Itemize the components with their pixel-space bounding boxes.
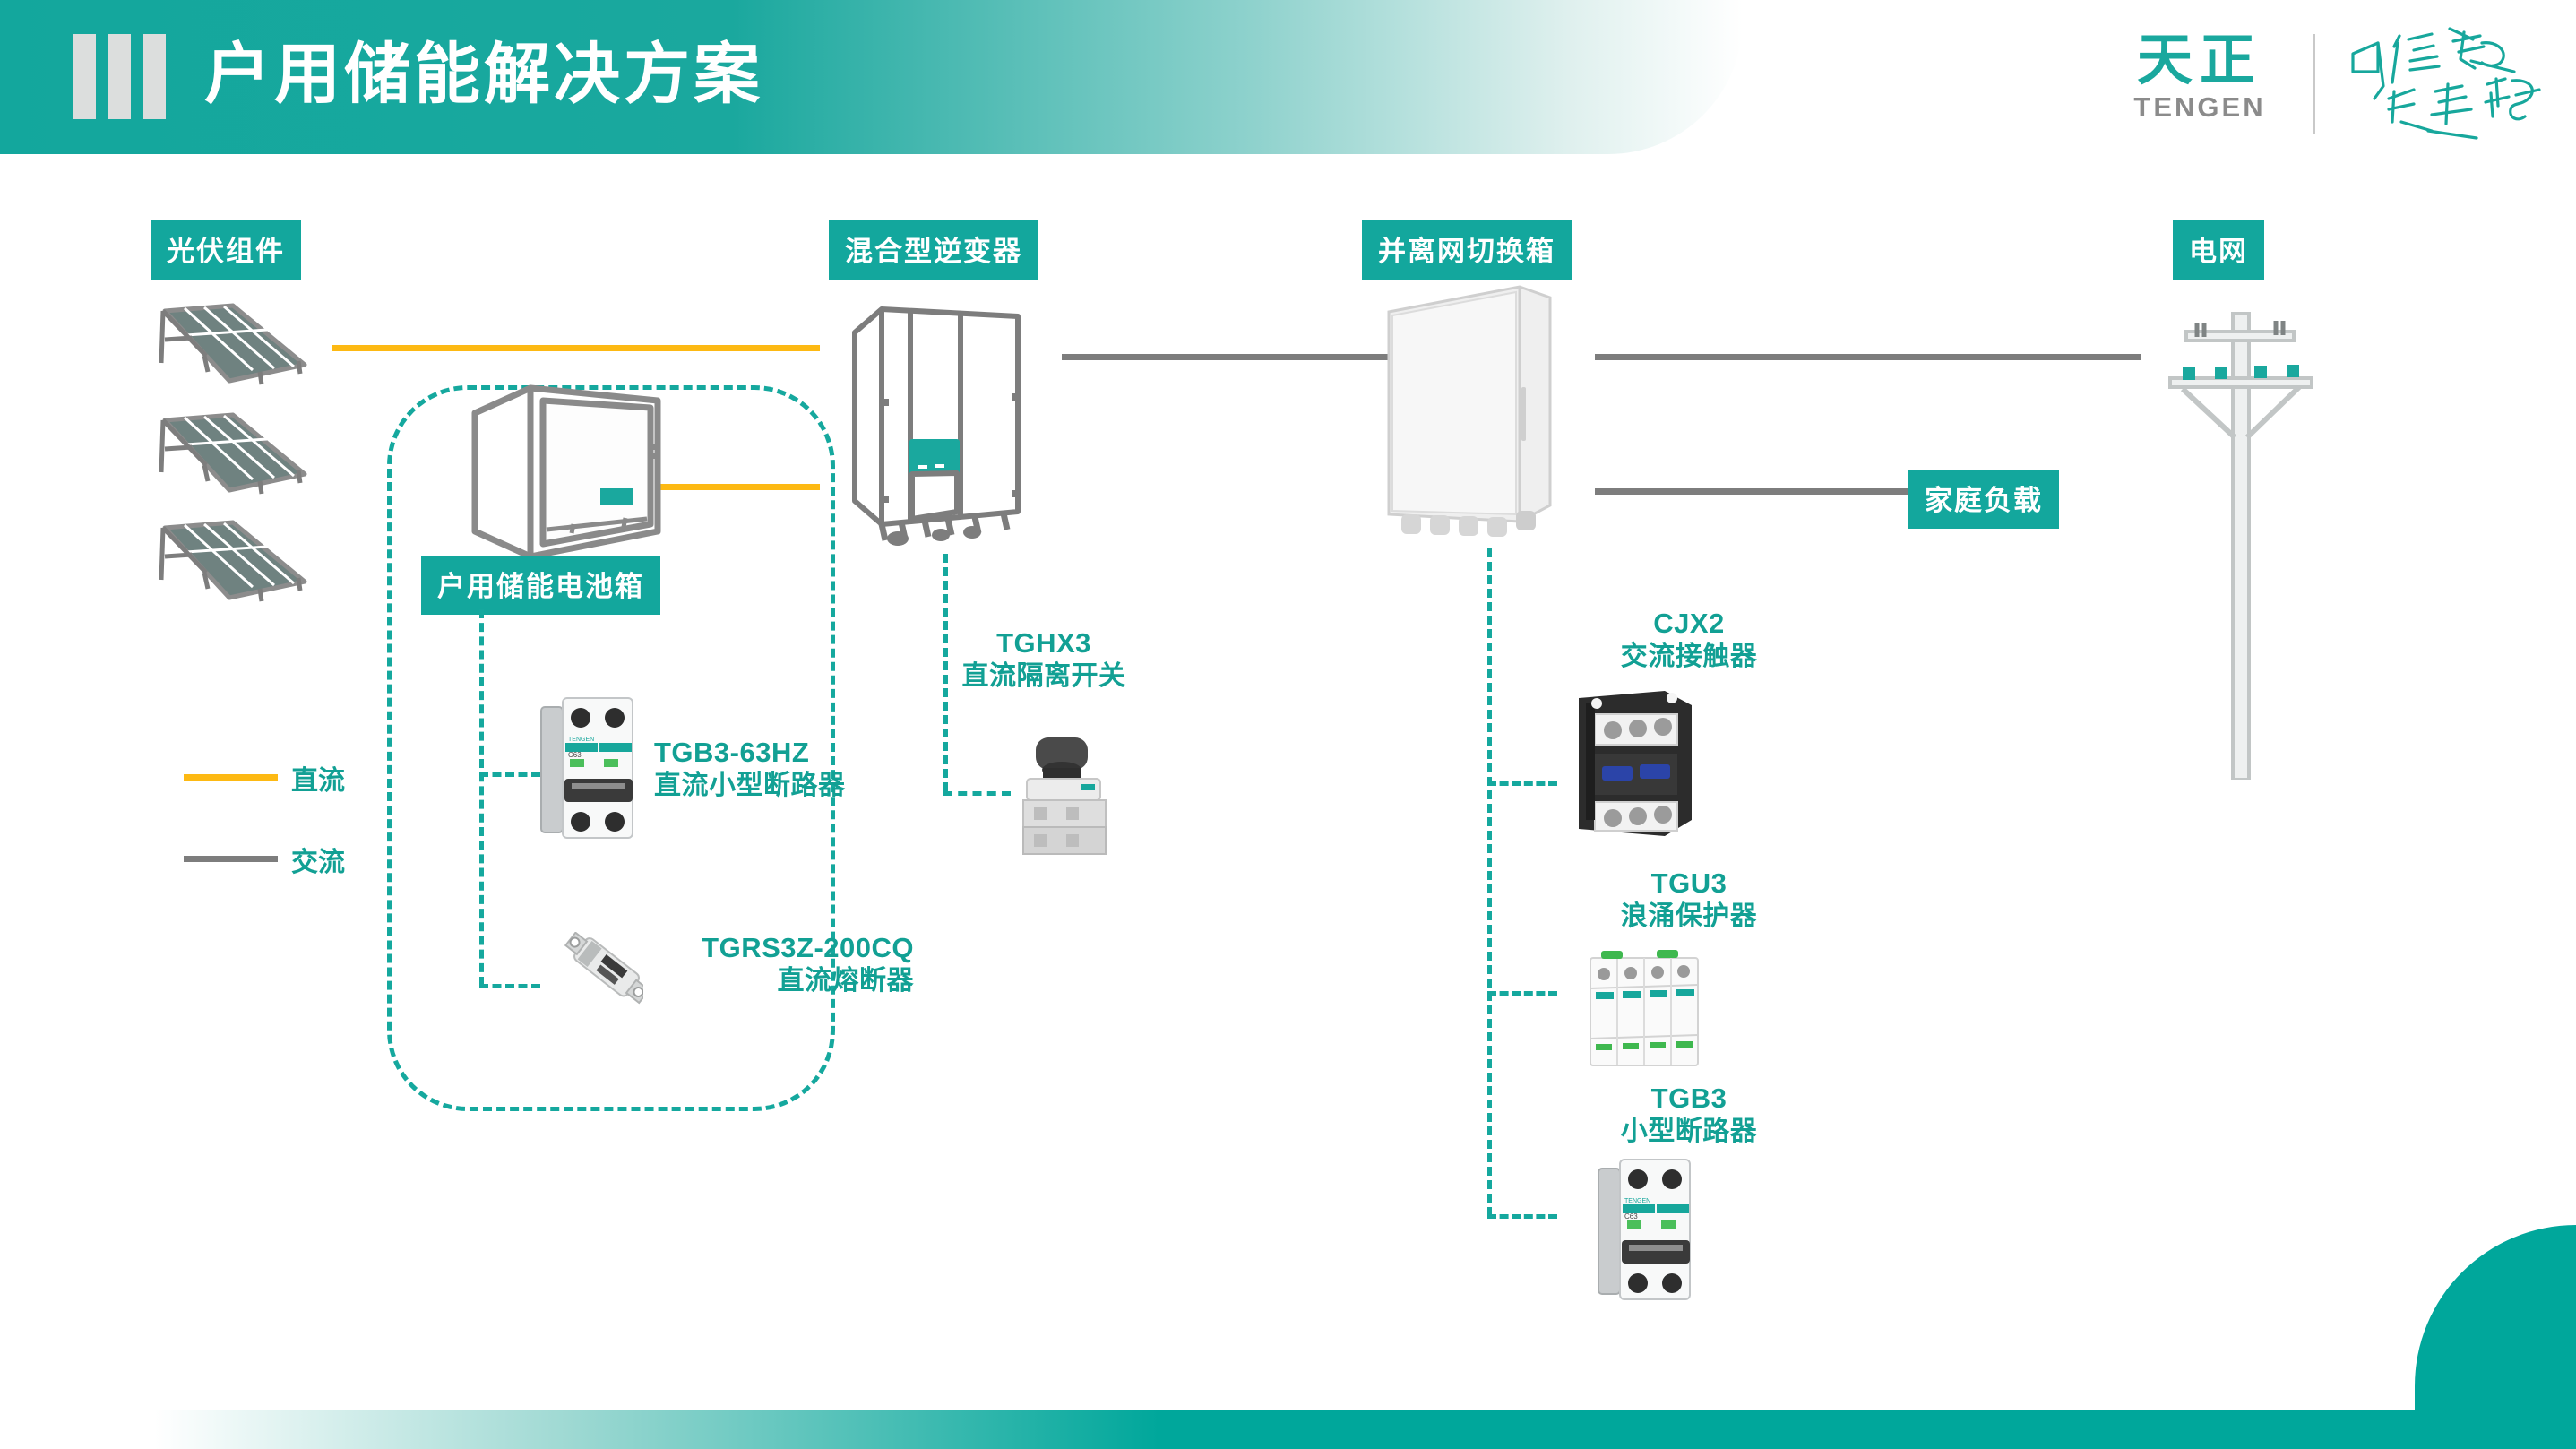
product-desc-ac-mcb: 小型断路器 bbox=[1577, 1116, 1801, 1147]
dc-mcb-icon: TENGEN C63 bbox=[538, 694, 638, 842]
footer-corner-accent bbox=[2415, 1225, 2576, 1449]
product-code-ac-mcb: TGB3 bbox=[1577, 1082, 1801, 1116]
legend-label-ac: 交流 bbox=[291, 840, 345, 879]
product-code-dc-mcb: TGB3-63HZ bbox=[654, 737, 950, 770]
product-desc-dc-mcb: 直流小型断路器 bbox=[654, 770, 950, 801]
solar-panel-icon bbox=[152, 410, 309, 504]
footer-bar bbox=[0, 1410, 2576, 1449]
section-tag-switchbox: 并离网切换箱 bbox=[1362, 220, 1572, 280]
battery-cabinet-icon bbox=[466, 381, 668, 565]
product-desc-dc-fuse: 直流熔断器 bbox=[600, 965, 914, 996]
section-tag-home-load: 家庭负载 bbox=[1908, 470, 2059, 529]
section-tag-battery-cabinet: 户用储能电池箱 bbox=[421, 556, 660, 615]
brand-logo-en: TENGEN bbox=[2110, 90, 2289, 125]
product-code-spd: TGU3 bbox=[1577, 867, 1801, 901]
svg-text:TENGEN: TENGEN bbox=[1624, 1198, 1650, 1204]
product-label-dc-mcb: TGB3-63HZ 直流小型断路器 bbox=[654, 737, 950, 801]
svg-text:C63: C63 bbox=[1624, 1212, 1638, 1220]
legend-label-dc: 直流 bbox=[291, 758, 345, 798]
section-tag-grid: 电网 bbox=[2173, 220, 2264, 280]
brand-slogan-handwriting bbox=[2339, 16, 2554, 142]
battery-branch-trunk bbox=[479, 609, 484, 986]
product-code-dc-fuse: TGRS3Z-200CQ bbox=[600, 932, 914, 965]
switchbox-branch-to-contactor bbox=[1487, 781, 1557, 786]
ac-line-inverter-to-switchbox bbox=[1062, 354, 1389, 360]
legend-swatch-ac bbox=[184, 856, 278, 862]
header-bar: 户用储能解决方案 bbox=[0, 0, 1743, 154]
legend-swatch-dc bbox=[184, 774, 278, 781]
svg-text:TENGEN: TENGEN bbox=[568, 737, 594, 743]
brand-logo-cn: 天正 bbox=[2110, 32, 2289, 90]
solar-panel-icon bbox=[152, 300, 309, 394]
brand-divider bbox=[2313, 34, 2315, 134]
switchbox-branch-trunk bbox=[1487, 548, 1492, 1216]
inverter-branch-to-isolator bbox=[943, 791, 1011, 796]
surge-protector-icon bbox=[1581, 945, 1707, 1075]
ac-line-switchbox-to-grid bbox=[1595, 354, 2141, 360]
battery-branch-to-dc-mcb bbox=[479, 772, 540, 777]
ac-line-switchbox-to-load bbox=[1595, 488, 1908, 495]
product-label-dc-isolator: TGHX3 直流隔离开关 bbox=[914, 627, 1174, 692]
section-tag-inverter: 混合型逆变器 bbox=[829, 220, 1038, 280]
product-desc-contactor: 交流接触器 bbox=[1577, 641, 1801, 672]
utility-pole-icon bbox=[2159, 296, 2321, 780]
solar-panel-icon bbox=[152, 517, 309, 611]
ac-mcb-icon: TENGEN C63 bbox=[1595, 1154, 1695, 1305]
product-desc-dc-isolator: 直流隔离开关 bbox=[914, 660, 1174, 692]
product-label-dc-fuse: TGRS3Z-200CQ 直流熔断器 bbox=[600, 932, 914, 996]
brand-logo: 天正 TENGEN bbox=[2110, 32, 2289, 125]
product-code-dc-isolator: TGHX3 bbox=[914, 627, 1174, 660]
product-code-contactor: CJX2 bbox=[1577, 608, 1801, 641]
switch-box-icon bbox=[1380, 280, 1559, 539]
dc-isolator-icon bbox=[1004, 721, 1120, 860]
ac-contactor-icon bbox=[1566, 686, 1705, 842]
product-desc-spd: 浪涌保护器 bbox=[1577, 901, 1801, 932]
page-title: 户用储能解决方案 bbox=[204, 25, 763, 124]
svg-text:C63: C63 bbox=[568, 751, 582, 759]
dc-line-pv-to-inverter bbox=[332, 345, 820, 351]
switchbox-branch-to-ac-mcb bbox=[1487, 1214, 1557, 1219]
product-label-spd: TGU3 浪涌保护器 bbox=[1577, 867, 1801, 932]
product-label-contactor: CJX2 交流接触器 bbox=[1577, 608, 1801, 672]
product-label-ac-mcb: TGB3 小型断路器 bbox=[1577, 1082, 1801, 1147]
switchbox-branch-to-spd bbox=[1487, 991, 1557, 996]
hybrid-inverter-icon bbox=[842, 300, 1035, 547]
section-tag-pv: 光伏组件 bbox=[151, 220, 301, 280]
three-bars-icon bbox=[73, 34, 181, 119]
